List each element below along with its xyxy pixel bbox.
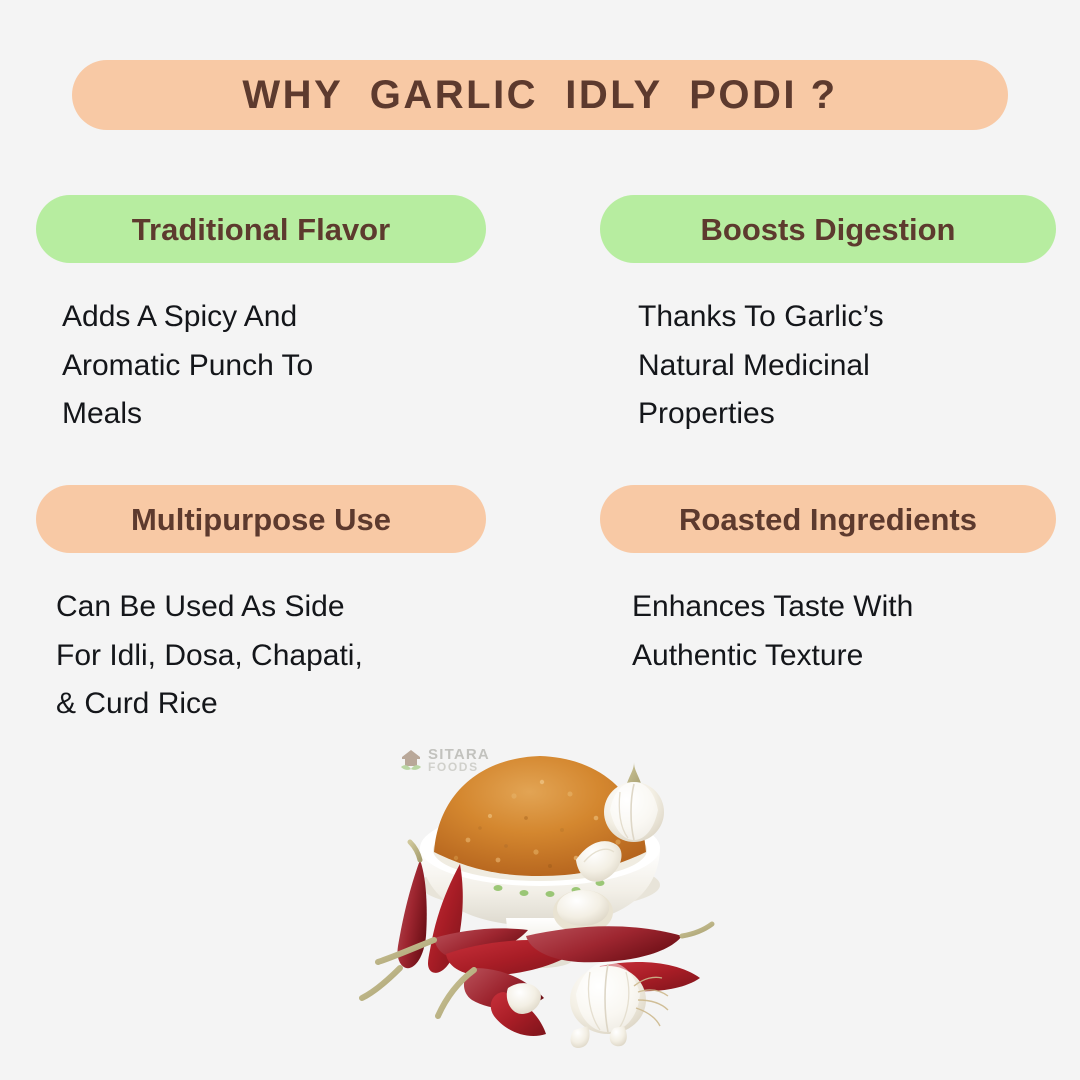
feature-title-pill: Boosts Digestion [600,195,1056,263]
feature-card-multipurpose-use: Multipurpose Use Can Be Used As Side For… [36,485,486,729]
feature-row-1: Traditional Flavor Adds A Spicy And Arom… [0,195,1080,485]
infographic-page: WHY GARLIC IDLY PODI ? Traditional Flavo… [0,0,1080,1080]
feature-title-label: Multipurpose Use [131,504,391,535]
feature-title-pill: Roasted Ingredients [600,485,1056,553]
feature-body-text: Enhances Taste With Authentic Texture [600,583,1056,680]
feature-title-pill: Multipurpose Use [36,485,486,553]
feature-card-boosts-digestion: Boosts Digestion Thanks To Garlic’s Natu… [600,195,1056,439]
feature-title-label: Roasted Ingredients [679,504,977,535]
feature-title-label: Traditional Flavor [132,214,390,245]
feature-body-text: Thanks To Garlic’s Natural Medicinal Pro… [600,293,1056,439]
header-banner: WHY GARLIC IDLY PODI ? [72,60,1008,130]
feature-title-pill: Traditional Flavor [36,195,486,263]
feature-title-label: Boosts Digestion [701,214,956,245]
product-photo: SITARA FOODS [338,700,742,1050]
page-title: WHY GARLIC IDLY PODI ? [242,73,837,118]
feature-grid: Traditional Flavor Adds A Spicy And Arom… [0,195,1080,745]
feature-card-roasted-ingredients: Roasted Ingredients Enhances Taste With … [600,485,1056,680]
feature-body-text: Adds A Spicy And Aromatic Punch To Meals [36,293,486,439]
feature-card-traditional-flavor: Traditional Flavor Adds A Spicy And Arom… [36,195,486,439]
